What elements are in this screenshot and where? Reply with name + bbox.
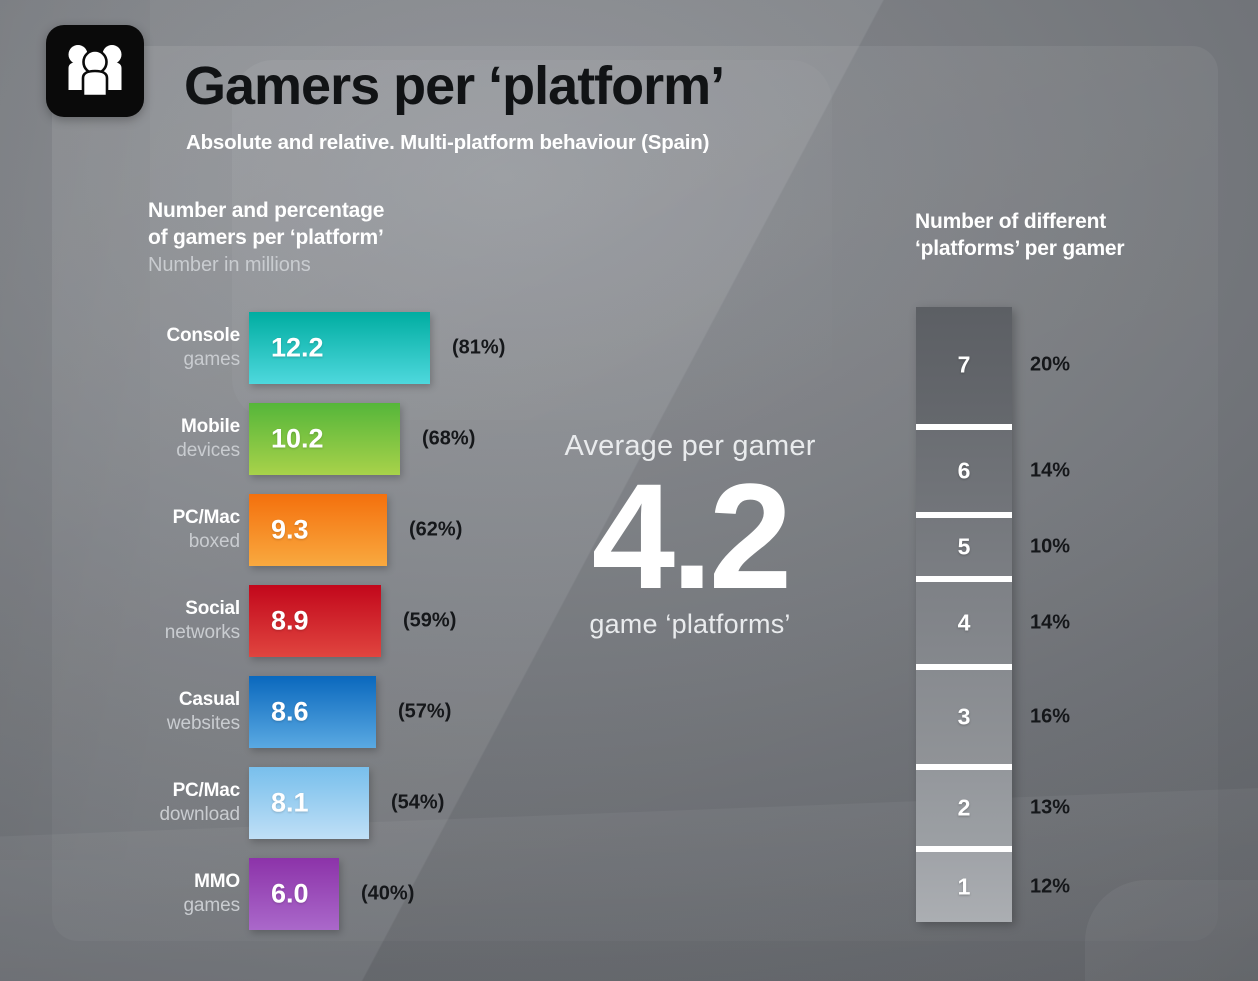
bar-label-line1: PC/Mac: [60, 779, 240, 803]
bar-label-line2: games: [60, 348, 240, 372]
bar-label-line1: PC/Mac: [60, 506, 240, 530]
bar-label-line1: Casual: [60, 688, 240, 712]
stack-segment-label: 2: [916, 794, 1012, 821]
stack-segment: 6: [916, 430, 1012, 512]
stack-segment: 3: [916, 670, 1012, 764]
bar-label-line2: boxed: [60, 530, 240, 554]
left-heading-note: Number in millions: [148, 251, 568, 279]
bar-label-line2: download: [60, 803, 240, 827]
bar-rect: 6.0: [249, 858, 339, 930]
stack-segment-label: 1: [916, 873, 1012, 900]
group-of-people-icon: [63, 42, 127, 100]
bar-label-line2: games: [60, 894, 240, 918]
stack-segment-label: 3: [916, 703, 1012, 730]
average-callout: Average per gamer 4.2 game ‘platforms’: [520, 430, 860, 640]
left-heading-line2: of gamers per ‘platform’: [148, 224, 568, 251]
bar-category-label: Consolegames: [60, 324, 240, 372]
bar-category-label: MMOgames: [60, 870, 240, 918]
stack-percent-label: 13%: [1030, 796, 1070, 819]
bar-category-label: Mobiledevices: [60, 415, 240, 463]
bar-rect: 8.6: [249, 676, 376, 748]
bar-rect: 9.3: [249, 494, 387, 566]
bar-category-label: PC/Macdownload: [60, 779, 240, 827]
bar-label-line2: networks: [60, 621, 240, 645]
bar-rect: 8.1: [249, 767, 369, 839]
stack-percent-label: 14%: [1030, 459, 1070, 482]
stack-segment: 5: [916, 518, 1012, 576]
left-heading-line1: Number and percentage: [148, 197, 568, 224]
bar-value-label: 10.2: [271, 424, 324, 455]
bar-percent-label: (57%): [398, 701, 451, 724]
bar-value-label: 8.1: [271, 788, 309, 819]
bar-percent-label: (81%): [452, 337, 505, 360]
stack-segment-label: 5: [916, 534, 1012, 561]
stack-segment-label: 7: [916, 352, 1012, 379]
right-chart-heading: Number of different ‘platforms’ per game…: [915, 208, 1215, 262]
stack-segment: 1: [916, 852, 1012, 922]
bar-category-label: Socialnetworks: [60, 597, 240, 645]
bar-percent-label: (62%): [409, 519, 462, 542]
right-heading-line1: Number of different: [915, 208, 1215, 235]
bar-value-label: 8.9: [271, 606, 309, 637]
stack-percent-label: 12%: [1030, 875, 1070, 898]
bar-percent-label: (54%): [391, 792, 444, 815]
stacked-column-chart: 7654321: [916, 307, 1012, 922]
bar-percent-label: (59%): [403, 610, 456, 633]
bar-rect: 12.2: [249, 312, 430, 384]
bar-label-line1: Mobile: [60, 415, 240, 439]
bar-label-line2: devices: [60, 439, 240, 463]
stack-segment: 4: [916, 582, 1012, 664]
bar-label-line1: MMO: [60, 870, 240, 894]
bar-percent-label: (40%): [361, 883, 414, 906]
bar-value-label: 9.3: [271, 515, 309, 546]
page-subtitle: Absolute and relative. Multi-platform be…: [186, 131, 709, 155]
infographic-canvas: Gamers per ‘platform’ Absolute and relat…: [0, 0, 1258, 981]
left-chart-heading: Number and percentage of gamers per ‘pla…: [148, 197, 568, 279]
bar-value-label: 12.2: [271, 333, 324, 364]
stack-segment: 7: [916, 307, 1012, 424]
bar-label-line2: websites: [60, 712, 240, 736]
bar-percent-label: (68%): [422, 428, 475, 451]
stack-segment-label: 6: [916, 457, 1012, 484]
stack-percent-label: 16%: [1030, 706, 1070, 729]
bar-category-label: PC/Macboxed: [60, 506, 240, 554]
right-heading-line2: ‘platforms’ per gamer: [915, 235, 1215, 262]
stack-percent-label: 10%: [1030, 536, 1070, 559]
bar-rect: 8.9: [249, 585, 381, 657]
page-title: Gamers per ‘platform’: [184, 55, 724, 117]
bar-value-label: 6.0: [271, 879, 309, 910]
bar-label-line1: Console: [60, 324, 240, 348]
stack-segment-label: 4: [916, 610, 1012, 637]
brand-logo: [46, 25, 144, 117]
bar-value-label: 8.6: [271, 697, 309, 728]
bar-category-label: Casualwebsites: [60, 688, 240, 736]
bar-label-line1: Social: [60, 597, 240, 621]
stack-percent-label: 14%: [1030, 612, 1070, 635]
average-value: 4.2: [520, 467, 860, 605]
bar-rect: 10.2: [249, 403, 400, 475]
stack-percent-label: 20%: [1030, 354, 1070, 377]
average-footer: game ‘platforms’: [520, 609, 860, 640]
stack-segment: 2: [916, 770, 1012, 846]
